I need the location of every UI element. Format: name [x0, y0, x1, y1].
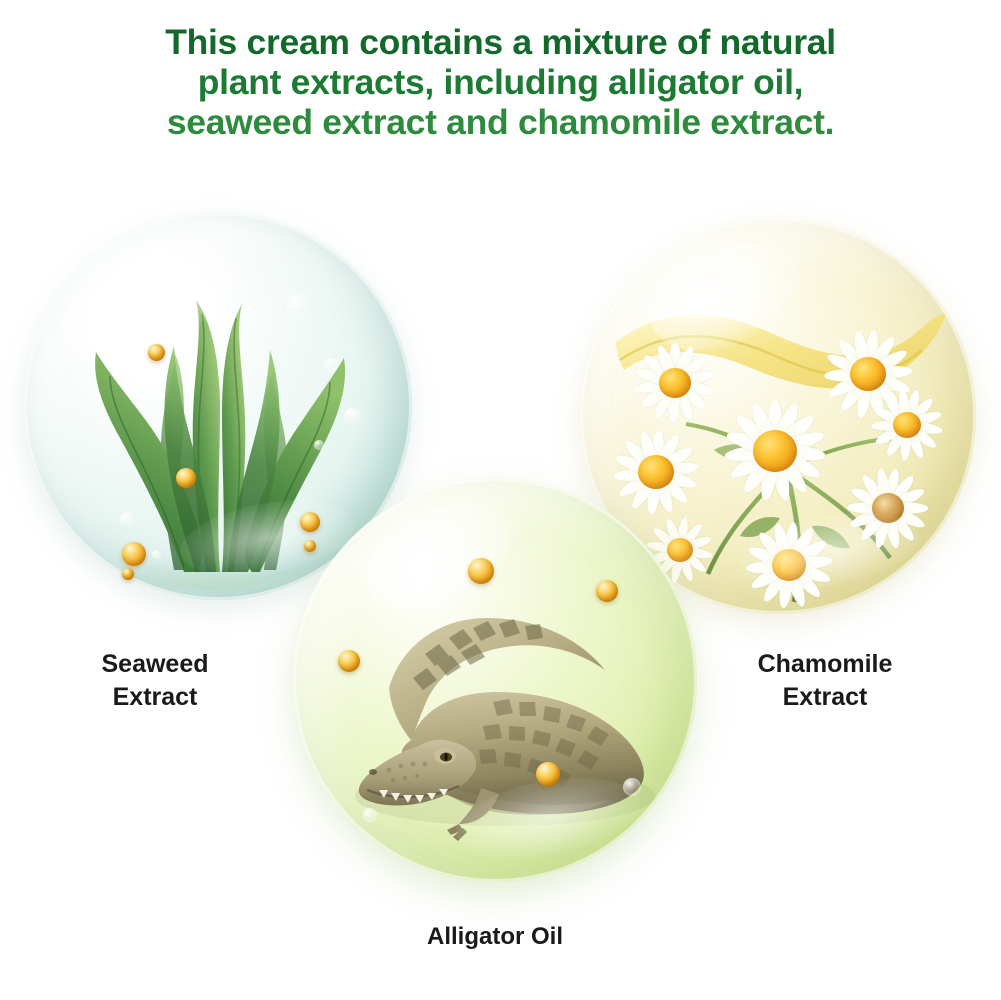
page-title: This cream contains a mixture of natural…	[0, 22, 1001, 142]
chamomile-flower	[868, 386, 946, 464]
alligator-sphere	[293, 478, 697, 882]
label-alligator-line-1: Alligator Oil	[300, 920, 690, 953]
ingredient-poster: This cream contains a mixture of natural…	[0, 0, 1001, 1000]
chamomile-flower	[632, 340, 718, 426]
label-seaweed-line-1: Seaweed	[30, 648, 280, 681]
label-chamomile-line-2: Extract	[700, 681, 950, 714]
label-chamomile-extract: Chamomile Extract	[700, 648, 950, 714]
headline-line-2: plant extracts, including alligator oil,	[18, 62, 983, 102]
chamomile-flower	[720, 396, 830, 506]
label-alligator-oil: Alligator Oil	[300, 920, 690, 953]
label-seaweed-extract: Seaweed Extract	[30, 648, 280, 714]
chamomile-flower	[742, 518, 836, 612]
alligator-illustration	[293, 478, 697, 882]
headline-line-1: This cream contains a mixture of natural	[18, 22, 983, 62]
label-seaweed-line-2: Extract	[30, 681, 280, 714]
label-chamomile-line-1: Chamomile	[700, 648, 950, 681]
headline-line-3: seaweed extract and chamomile extract.	[18, 102, 983, 142]
chamomile-flower	[844, 464, 932, 552]
